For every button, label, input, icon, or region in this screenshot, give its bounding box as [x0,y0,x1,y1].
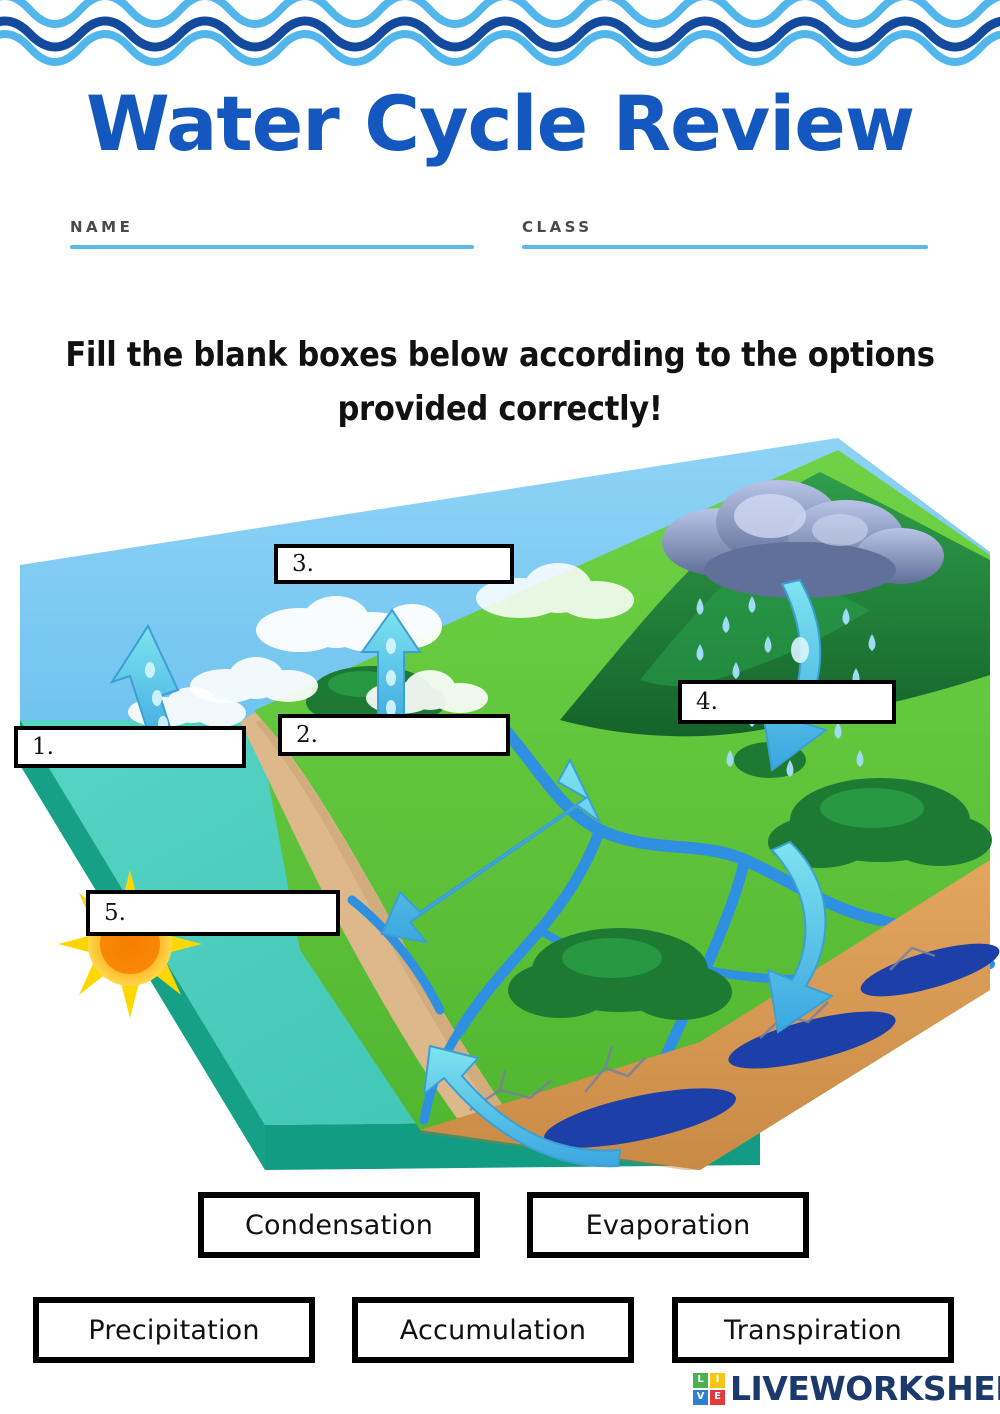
instruction-text: Fill the blank boxes below according to … [60,328,940,437]
blank-number-1: 1. [18,734,54,760]
option-evaporation[interactable]: Evaporation [527,1192,809,1258]
blank-box-4[interactable]: 4. [678,680,896,724]
blank-number-5: 5. [90,900,126,926]
liveworksheets-logo-icon: L I V E [693,1373,725,1405]
name-field[interactable]: NAME [70,218,474,249]
liveworksheets-wordmark: LIVEWORKSHEETS [730,1372,1000,1405]
option-accumulation[interactable]: Accumulation [352,1297,634,1363]
blank-box-3[interactable]: 3. [274,544,514,584]
water-cycle-diagram [0,430,1000,1170]
blank-number-4: 4. [682,689,718,715]
class-field-label: CLASS [522,218,928,236]
logo-tile-v: V [693,1390,708,1405]
wave-header-decoration [0,0,1000,70]
class-field-rule[interactable] [522,245,928,249]
logo-tile-l: L [693,1373,708,1388]
option-transpiration[interactable]: Transpiration [672,1297,954,1363]
blank-number-3: 3. [278,551,314,577]
blank-box-1[interactable]: 1. [14,726,246,768]
option-condensation[interactable]: Condensation [198,1192,480,1258]
blank-box-5[interactable]: 5. [86,890,340,936]
name-field-rule[interactable] [70,245,474,249]
page-title: Water Cycle Review [0,86,1000,162]
class-field[interactable]: CLASS [522,218,928,249]
name-field-label: NAME [70,218,474,236]
liveworksheets-logo[interactable]: L I V E LIVEWORKSHEETS [693,1372,1000,1405]
logo-tile-i: I [710,1373,725,1388]
worksheet-page: Water Cycle Review NAME CLASS Fill the b… [0,0,1000,1414]
blank-box-2[interactable]: 2. [278,714,510,756]
blank-number-2: 2. [282,722,318,748]
logo-tile-e: E [710,1390,725,1405]
option-precipitation[interactable]: Precipitation [33,1297,315,1363]
